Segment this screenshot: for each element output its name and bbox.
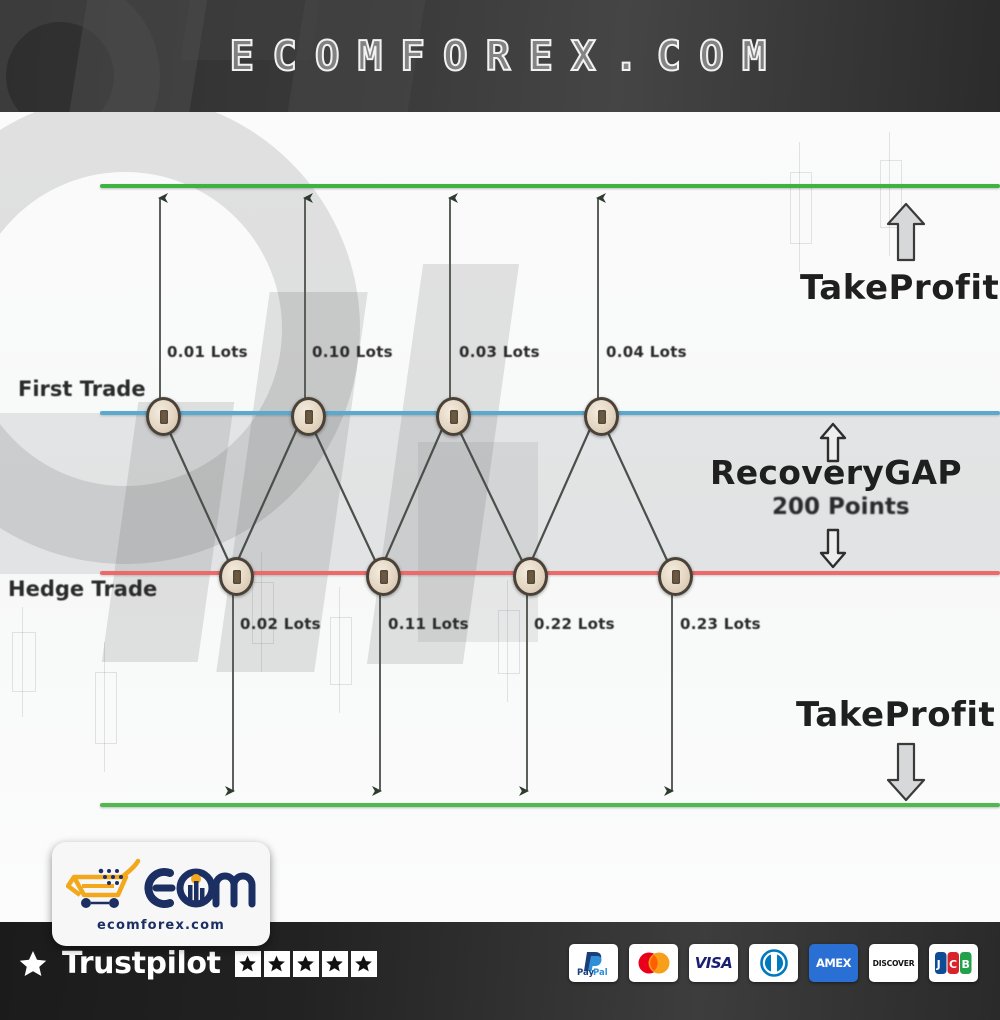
trade-node-buy-1[interactable] bbox=[146, 397, 181, 436]
site-header: ECOMFOREX.COM bbox=[0, 0, 1000, 112]
trade-node-sell-1[interactable] bbox=[219, 557, 254, 596]
take-profit-up-arrow-icon bbox=[884, 202, 928, 264]
star-icon bbox=[264, 951, 290, 977]
discover-icon[interactable]: DISCOVER bbox=[869, 944, 918, 982]
trustpilot-label: Trustpilot bbox=[62, 946, 221, 981]
visa-icon[interactable]: VISA bbox=[689, 944, 738, 982]
brand-logo-card[interactable]: ecomforex.com bbox=[52, 842, 270, 946]
lot-label-buy-1: 0.01 Lots bbox=[167, 343, 248, 361]
logo-domain-text: ecomforex.com bbox=[97, 918, 225, 933]
recovery-gap-points: 200 Points bbox=[772, 494, 910, 520]
jcb-icon[interactable]: J C B bbox=[929, 944, 978, 982]
trade-node-sell-3[interactable] bbox=[513, 557, 548, 596]
trustpilot-star-icon bbox=[18, 949, 48, 979]
paypal-icon[interactable]: Pay Pal bbox=[569, 944, 618, 982]
lot-label-sell-2: 0.11 Lots bbox=[388, 615, 469, 633]
star-icon bbox=[351, 951, 377, 977]
payment-methods: Pay Pal VISA bbox=[569, 944, 978, 982]
lot-label-buy-2: 0.10 Lots bbox=[312, 343, 393, 361]
hedge-trade-label: Hedge Trade bbox=[8, 577, 157, 601]
diners-club-icon[interactable] bbox=[749, 944, 798, 982]
discover-label: DISCOVER bbox=[873, 959, 915, 968]
trustpilot-star-rating bbox=[235, 951, 377, 977]
trade-node-buy-2[interactable] bbox=[291, 397, 326, 436]
lot-label-buy-3: 0.03 Lots bbox=[459, 343, 540, 361]
amex-icon[interactable]: AMEX bbox=[809, 944, 858, 982]
trustpilot-badge[interactable]: Trustpilot bbox=[18, 946, 377, 981]
trade-node-buy-4[interactable] bbox=[584, 397, 619, 436]
lot-label-sell-1: 0.02 Lots bbox=[240, 615, 321, 633]
take-profit-down-arrow-icon bbox=[884, 740, 928, 802]
svg-text:C: C bbox=[949, 958, 957, 971]
trade-node-sell-2[interactable] bbox=[366, 557, 401, 596]
svg-text:Pal: Pal bbox=[593, 968, 608, 978]
trade-node-buy-3[interactable] bbox=[436, 397, 471, 436]
take-profit-upper-label: TakeProfit bbox=[800, 268, 999, 308]
svg-text:B: B bbox=[961, 958, 969, 971]
strategy-diagram: 0.01 Lots 0.10 Lots 0.03 Lots 0.04 Lots … bbox=[0, 112, 1000, 922]
trade-node-sell-4[interactable] bbox=[658, 557, 693, 596]
svg-text:Pay: Pay bbox=[577, 968, 594, 978]
recovery-gap-title: RecoveryGAP bbox=[710, 453, 962, 492]
star-icon bbox=[322, 951, 348, 977]
star-icon bbox=[235, 951, 261, 977]
amex-label: AMEX bbox=[816, 956, 851, 970]
visa-label: VISA bbox=[695, 954, 733, 972]
lot-label-buy-4: 0.04 Lots bbox=[606, 343, 687, 361]
ecom-logo-icon bbox=[66, 855, 256, 917]
screenshot-root: ECOMFOREX.COM bbox=[0, 0, 1000, 1020]
site-title: ECOMFOREX.COM bbox=[0, 0, 1000, 112]
star-icon bbox=[293, 951, 319, 977]
recovery-gap-down-arrow-icon bbox=[818, 527, 848, 569]
mastercard-icon[interactable] bbox=[629, 944, 678, 982]
svg-text:J: J bbox=[935, 958, 940, 971]
lot-label-sell-4: 0.23 Lots bbox=[680, 615, 761, 633]
first-trade-label: First Trade bbox=[18, 377, 146, 401]
lot-label-sell-3: 0.22 Lots bbox=[534, 615, 615, 633]
take-profit-lower-label: TakeProfit bbox=[796, 695, 995, 735]
